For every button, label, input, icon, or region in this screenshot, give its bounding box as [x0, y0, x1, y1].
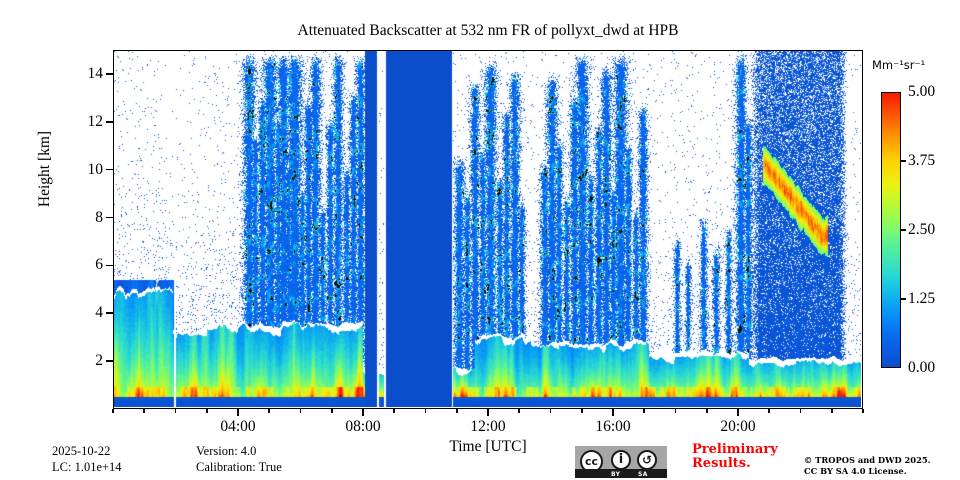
y-axis-tick-label: 12 — [61, 113, 103, 131]
cc-by-label: BY — [611, 471, 620, 478]
creative-commons-by-sa-icon: cc i ↺ BY SA — [575, 446, 667, 478]
x-axis-tick-minor — [268, 409, 270, 413]
x-axis-tick-label: 12:00 — [448, 418, 528, 436]
y-axis-tick — [106, 360, 113, 362]
copyright-notice: © TROPOS and DWD 2025. CC BY SA 4.0 Lice… — [804, 455, 931, 476]
preliminary-results-notice: Preliminary Results. — [692, 443, 778, 471]
x-axis-tick-minor — [643, 409, 645, 413]
footer-version: Version: 4.0 — [196, 444, 256, 459]
y-axis-tick-label: 10 — [61, 161, 103, 179]
x-axis-tick-minor — [862, 409, 864, 413]
y-axis-label: Height [km] — [36, 79, 54, 259]
y-axis-tick — [106, 265, 113, 267]
plot-axes — [113, 50, 863, 409]
colorbar-tick-label: 5.00 — [908, 83, 935, 101]
x-axis-tick-minor — [768, 409, 770, 413]
y-axis-tick — [106, 169, 113, 171]
copyright-line-2: CC BY SA 4.0 License. — [804, 466, 931, 477]
x-axis-tick-minor — [456, 409, 458, 413]
y-axis-tick-label: 4 — [61, 304, 103, 322]
colorbar-tick — [901, 229, 906, 230]
cc-attribution-icon: i — [611, 450, 631, 470]
cc-sa-label: SA — [638, 471, 648, 478]
x-axis-tick-minor — [300, 409, 302, 413]
x-axis-tick-major — [737, 409, 739, 416]
y-axis-tick — [106, 121, 113, 123]
colorbar — [881, 92, 901, 368]
y-axis-tick-label: 8 — [61, 209, 103, 227]
footer-calibration: Calibration: True — [196, 460, 282, 475]
x-axis-tick-major — [237, 409, 239, 416]
x-axis-tick-minor — [112, 409, 114, 413]
x-axis-tick-minor — [206, 409, 208, 413]
colorbar-tick-label: 3.75 — [908, 152, 935, 170]
y-axis-tick — [106, 312, 113, 314]
x-axis-tick-major — [362, 409, 364, 416]
x-axis-tick-label: 08:00 — [323, 418, 403, 436]
backscatter-heatmap — [114, 51, 861, 407]
preliminary-line-2: Results. — [692, 457, 778, 471]
x-axis-tick-label: 16:00 — [573, 418, 653, 436]
x-axis-tick-minor — [706, 409, 708, 413]
colorbar-unit-label: Mm⁻¹sr⁻¹ — [872, 58, 925, 72]
x-axis-tick-minor — [831, 409, 833, 413]
x-axis-tick-minor — [393, 409, 395, 413]
x-axis-tick-minor — [518, 409, 520, 413]
x-axis-tick-minor — [425, 409, 427, 413]
x-axis-tick-minor — [581, 409, 583, 413]
footer-lidar-constant: LC: 1.01e+14 — [52, 460, 122, 475]
colorbar-tick — [901, 160, 906, 161]
x-axis-tick-label: 20:00 — [698, 418, 778, 436]
y-axis-tick — [106, 217, 113, 219]
x-axis-tick-major — [487, 409, 489, 416]
x-axis-tick-minor — [175, 409, 177, 413]
cc-badge-bottom-bar — [575, 469, 667, 478]
colorbar-tick-label: 2.50 — [908, 221, 935, 239]
x-axis-tick-label: 04:00 — [198, 418, 278, 436]
cc-sharealike-icon: ↺ — [637, 450, 657, 470]
y-axis-tick — [106, 73, 113, 75]
copyright-line-1: © TROPOS and DWD 2025. — [804, 455, 931, 466]
x-axis-tick-major — [612, 409, 614, 416]
lidar-quicklook-figure: Attenuated Backscatter at 532 nm FR of p… — [0, 0, 960, 480]
colorbar-tick — [901, 298, 906, 299]
preliminary-line-1: Preliminary — [692, 443, 778, 457]
page-title: Attenuated Backscatter at 532 nm FR of p… — [113, 22, 863, 40]
x-axis-tick-minor — [331, 409, 333, 413]
footer-date: 2025-10-22 — [52, 444, 110, 459]
colorbar-tick-label: 0.00 — [908, 359, 935, 377]
y-axis-tick-label: 6 — [61, 256, 103, 274]
x-axis-tick-minor — [550, 409, 552, 413]
x-axis-tick-minor — [800, 409, 802, 413]
y-axis-tick-label: 14 — [61, 65, 103, 83]
x-axis-tick-minor — [143, 409, 145, 413]
colorbar-tick-label: 1.25 — [908, 290, 935, 308]
x-axis-tick-minor — [675, 409, 677, 413]
y-axis-tick-label: 2 — [61, 352, 103, 370]
colorbar-gradient — [882, 93, 900, 367]
